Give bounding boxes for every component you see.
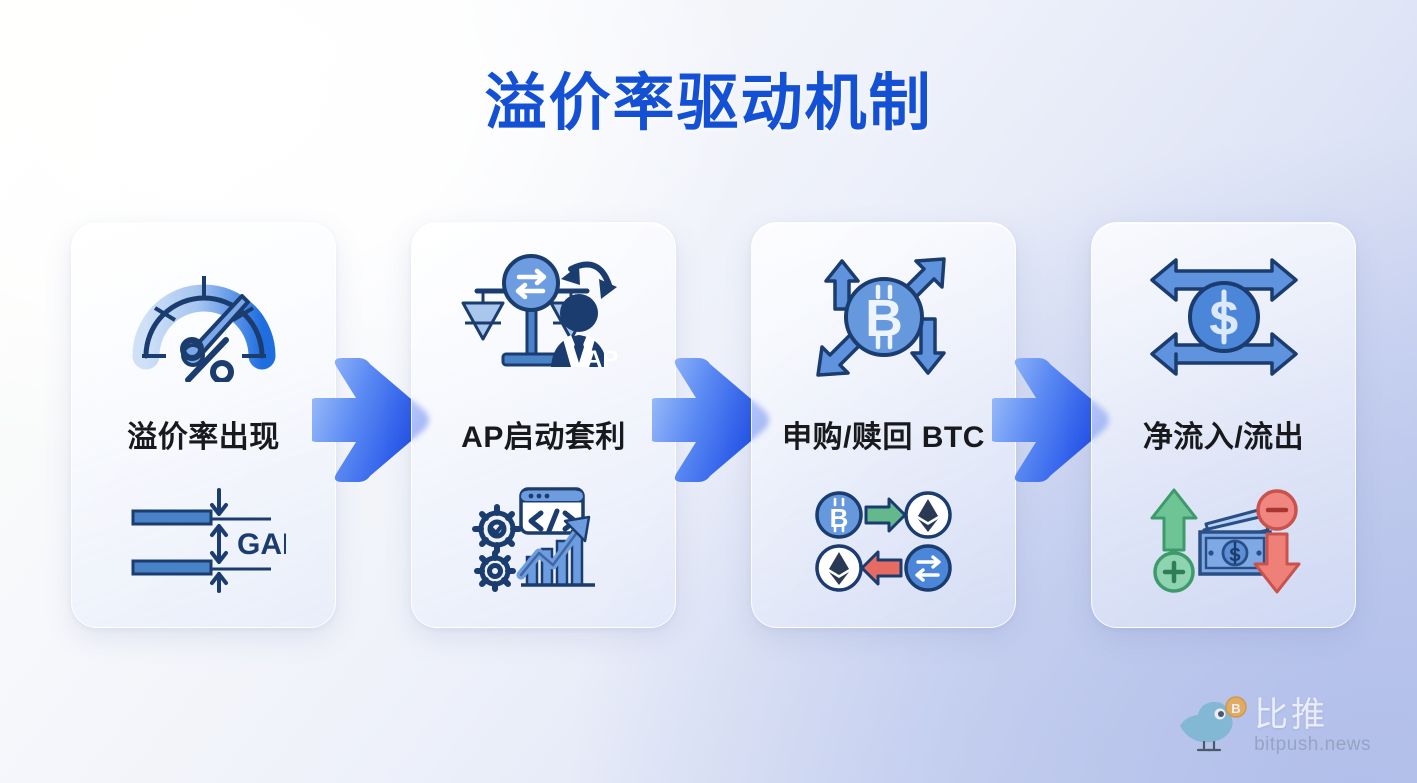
step-card-3: B 申购/赎回 BTC B: [751, 222, 1016, 628]
svg-text:B: B: [1231, 701, 1240, 716]
step-card-2-label: AP启动套利: [412, 412, 675, 456]
step-card-1-label: 溢价率出现: [72, 412, 335, 456]
bitpush-bird-icon: B: [1174, 692, 1248, 759]
price-gap-icon: GAP: [72, 481, 335, 601]
step-card-4: S 净流入/流出 S: [1091, 222, 1356, 628]
bitcoin-symbol: B: [865, 290, 903, 348]
gears-growth-chart-icon: [412, 481, 675, 601]
step-card-4-label: 净流入/流出: [1092, 412, 1355, 456]
inflow-outflow-cash-icon: S: [1092, 481, 1355, 601]
infographic-canvas: 溢价率驱动机制: [0, 0, 1417, 783]
gap-label: GAP: [237, 528, 286, 561]
svg-text:B: B: [829, 503, 848, 533]
btc-eth-swap-icon: B: [752, 481, 1015, 601]
watermark-brand-en: bitpush.news: [1254, 735, 1371, 754]
page-title: 溢价率驱动机制: [0, 52, 1417, 142]
percent-gauge-icon: [72, 247, 335, 387]
step-card-2: AP AP启动套利: [411, 222, 676, 628]
step-card-3-label: 申购/赎回 BTC: [752, 412, 1015, 456]
balance-scale-trader-icon: AP: [412, 247, 675, 387]
bitcoin-four-arrows-icon: B: [752, 247, 1015, 387]
ap-label: AP: [585, 346, 618, 373]
watermark: B 比推 bitpush.news: [1174, 692, 1371, 759]
watermark-brand-cn: 比推: [1254, 698, 1371, 732]
dollar-flow-arrows-icon: S: [1092, 247, 1355, 387]
step-card-1: 溢价率出现 GAP: [71, 222, 336, 628]
